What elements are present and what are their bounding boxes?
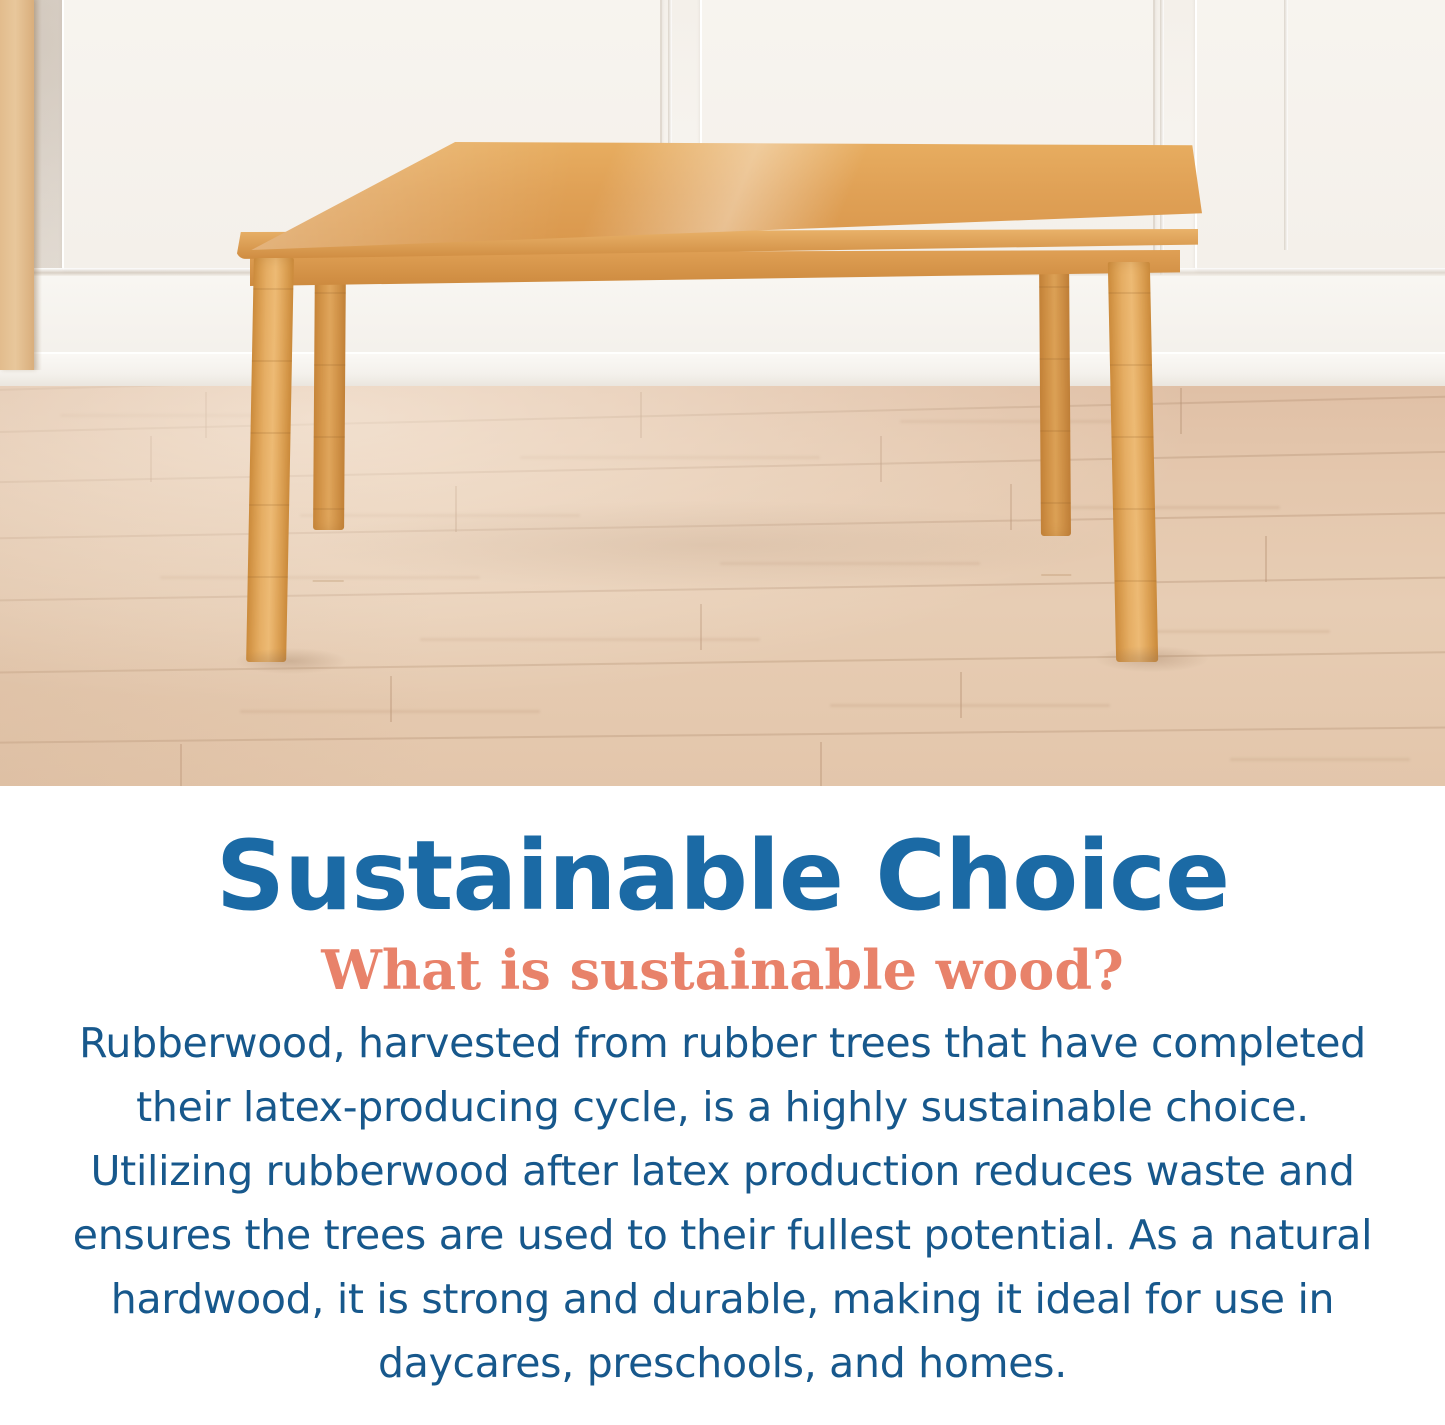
leg-wood-grain <box>1111 436 1153 438</box>
leg-wood-grain <box>313 580 344 582</box>
leg-contact-shadow <box>236 648 346 674</box>
leg-wood-grain <box>248 576 288 578</box>
leg-wood-grain <box>1114 580 1156 582</box>
table-leg-front-left <box>246 258 294 662</box>
paragraph-line: daycares, preschools, and homes. <box>43 1331 1403 1395</box>
page-title: Sustainable Choice <box>0 828 1445 926</box>
paragraph-line: Rubberwood, harvested from rubber trees … <box>43 1011 1403 1075</box>
leg-wood-grain <box>1041 574 1071 576</box>
table-shadow <box>300 500 1120 590</box>
section-subheading: What is sustainable wood? <box>0 942 1445 999</box>
description-paragraph: Rubberwood, harvested from rubber trees … <box>43 1011 1403 1395</box>
leg-wood-grain <box>1110 364 1152 366</box>
leg-wood-grain <box>1040 358 1070 360</box>
leg-wood-grain <box>314 364 345 366</box>
product-photo <box>0 0 1445 786</box>
text-section: Sustainable Choice What is sustainable w… <box>0 786 1445 1425</box>
leg-wood-grain <box>253 288 293 290</box>
leg-wood-grain <box>314 436 345 438</box>
paragraph-line: their latex-producing cycle, is a highly… <box>43 1075 1403 1139</box>
table-leg-back-left <box>313 262 346 530</box>
paragraph-line: hardwood, it is strong and durable, maki… <box>43 1267 1403 1331</box>
leg-wood-grain <box>252 360 292 362</box>
leg-wood-grain <box>1108 292 1150 294</box>
paragraph-line: ensures the trees are used to their full… <box>43 1203 1403 1267</box>
leg-wood-grain <box>1039 286 1069 288</box>
leg-wood-grain <box>1113 508 1155 510</box>
table-leg-back-right <box>1039 256 1071 536</box>
leg-wood-grain <box>1040 430 1070 432</box>
leg-wood-grain <box>313 508 344 510</box>
table-leg-front-right <box>1108 262 1158 662</box>
product-infographic-page: Sustainable Choice What is sustainable w… <box>0 0 1445 1425</box>
paragraph-line: Utilizing rubberwood after latex product… <box>43 1139 1403 1203</box>
leg-wood-grain <box>1041 502 1071 504</box>
wooden-table <box>0 0 1445 786</box>
leg-wood-grain <box>250 432 290 434</box>
leg-wood-grain <box>249 504 289 506</box>
leg-wood-grain <box>315 292 346 294</box>
leg-contact-shadow <box>1096 646 1208 672</box>
